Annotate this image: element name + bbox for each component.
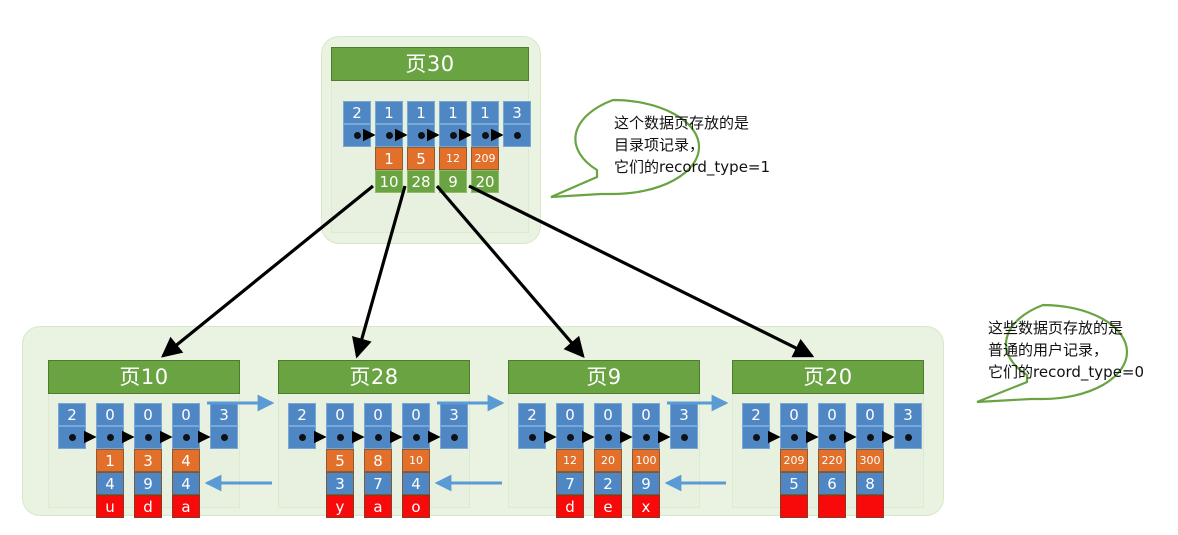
record-mid-leaf2-3: 100 (632, 449, 660, 472)
record-num-leaf2-1: 7 (556, 472, 584, 495)
record-pointer-root-0 (343, 124, 371, 147)
record-mid-leaf3-3: 300 (856, 449, 884, 472)
record-header-leaf2-1: 0 (556, 403, 584, 426)
record-leaf1-4[interactable]: 3 (440, 403, 468, 449)
record-pointer-leaf1-3 (402, 426, 430, 449)
record-num-leaf1-1: 3 (326, 472, 354, 495)
pointer-dot-icon (605, 434, 612, 441)
record-pointer-leaf1-0 (288, 426, 316, 449)
page-title-root: 页30 (331, 47, 529, 81)
pointer-dot-icon (482, 132, 489, 139)
record-val-leaf0-3: a (172, 495, 200, 518)
pointer-dot-icon (791, 434, 798, 441)
record-header-leaf2-0: 2 (518, 403, 546, 426)
record-val-leaf2-3: x (632, 495, 660, 518)
pointer-dot-icon (829, 434, 836, 441)
record-root-3[interactable]: 1129 (439, 101, 467, 193)
record-mid-root-1: 1 (375, 147, 403, 170)
record-leaf3-0[interactable]: 2 (742, 403, 770, 449)
pointer-dot-icon (221, 434, 228, 441)
pointer-dot-icon (418, 132, 425, 139)
record-root-5[interactable]: 3 (503, 101, 531, 147)
record-pointer-leaf2-3 (632, 426, 660, 449)
record-header-leaf0-2: 0 (134, 403, 162, 426)
record-val-leaf3-2 (818, 495, 846, 518)
record-header-root-5: 3 (503, 101, 531, 124)
record-val-leaf1-3: o (402, 495, 430, 518)
record-header-leaf1-0: 2 (288, 403, 316, 426)
record-mid-root-2: 5 (407, 147, 435, 170)
record-leaf2-3[interactable]: 01009x (632, 403, 660, 518)
diagram-canvas: 页30 页10 页28 页9 页20 211101528112912092032… (0, 0, 1178, 535)
record-val-leaf3-1 (780, 495, 808, 518)
record-childpage-root-3: 9 (439, 170, 467, 193)
pointer-dot-icon (514, 132, 521, 139)
record-childpage-root-1: 10 (375, 170, 403, 193)
record-header-leaf1-4: 3 (440, 403, 468, 426)
record-mid-leaf0-2: 3 (134, 449, 162, 472)
record-num-leaf2-2: 2 (594, 472, 622, 495)
pointer-dot-icon (299, 434, 306, 441)
pointer-dot-icon (567, 434, 574, 441)
record-mid-root-3: 12 (439, 147, 467, 170)
record-pointer-root-3 (439, 124, 467, 147)
record-pointer-leaf2-4 (670, 426, 698, 449)
pointer-dot-icon (375, 434, 382, 441)
record-num-leaf3-3: 8 (856, 472, 884, 495)
record-root-4[interactable]: 120920 (471, 101, 499, 193)
record-childpage-root-4: 20 (471, 170, 499, 193)
record-leaf1-0[interactable]: 2 (288, 403, 316, 449)
record-val-leaf0-1: u (96, 495, 124, 518)
record-leaf1-3[interactable]: 0104o (402, 403, 430, 518)
record-leaf2-4[interactable]: 3 (670, 403, 698, 449)
record-header-leaf0-3: 0 (172, 403, 200, 426)
record-header-leaf3-0: 2 (742, 403, 770, 426)
record-pointer-leaf0-0 (58, 426, 86, 449)
record-header-leaf1-1: 0 (326, 403, 354, 426)
record-leaf2-2[interactable]: 0202e (594, 403, 622, 518)
callout-root-line-1: 这个数据页存放的是 (614, 112, 749, 134)
record-num-leaf0-1: 4 (96, 472, 124, 495)
record-num-leaf1-2: 7 (364, 472, 392, 495)
record-mid-leaf0-1: 1 (96, 449, 124, 472)
record-pointer-leaf3-4 (894, 426, 922, 449)
record-pointer-leaf3-2 (818, 426, 846, 449)
record-pointer-root-1 (375, 124, 403, 147)
pointer-dot-icon (69, 434, 76, 441)
record-mid-leaf1-2: 8 (364, 449, 392, 472)
record-pointer-leaf2-2 (594, 426, 622, 449)
record-val-leaf1-1: y (326, 495, 354, 518)
record-leaf0-3[interactable]: 044a (172, 403, 200, 518)
record-pointer-root-5 (503, 124, 531, 147)
record-mid-leaf0-3: 4 (172, 449, 200, 472)
record-root-2[interactable]: 1528 (407, 101, 435, 193)
page-title-leaf-0: 页10 (48, 360, 240, 394)
record-childpage-root-2: 28 (407, 170, 435, 193)
record-header-leaf0-0: 2 (58, 403, 86, 426)
pointer-dot-icon (753, 434, 760, 441)
page-title-leaf-2: 页9 (508, 360, 700, 394)
pointer-dot-icon (529, 434, 536, 441)
page-title-leaf-3: 页20 (732, 360, 924, 394)
pointer-dot-icon (413, 434, 420, 441)
callout-leaf-line-3: 它们的record_type=0 (988, 361, 1144, 383)
record-pointer-leaf3-1 (780, 426, 808, 449)
record-val-leaf2-2: e (594, 495, 622, 518)
record-leaf0-4[interactable]: 3 (210, 403, 238, 449)
pointer-dot-icon (145, 434, 152, 441)
record-header-leaf3-4: 3 (894, 403, 922, 426)
record-leaf0-2[interactable]: 039d (134, 403, 162, 518)
callout-root-line-3: 它们的record_type=1 (614, 156, 770, 178)
callout-root-line-2: 目录项记录， (614, 134, 704, 156)
pointer-dot-icon (354, 132, 361, 139)
record-leaf3-2[interactable]: 02206 (818, 403, 846, 518)
record-header-root-4: 1 (471, 101, 499, 124)
record-pointer-leaf3-3 (856, 426, 884, 449)
record-mid-leaf3-1: 209 (780, 449, 808, 472)
record-num-leaf3-2: 6 (818, 472, 846, 495)
record-header-leaf3-3: 0 (856, 403, 884, 426)
pointer-dot-icon (681, 434, 688, 441)
pointer-dot-icon (107, 434, 114, 441)
record-leaf1-1[interactable]: 053y (326, 403, 354, 518)
record-val-leaf1-2: a (364, 495, 392, 518)
record-mid-leaf1-1: 5 (326, 449, 354, 472)
record-pointer-leaf0-4 (210, 426, 238, 449)
callout-leaf-line-1: 这些数据页存放的是 (988, 317, 1123, 339)
record-mid-leaf1-3: 10 (402, 449, 430, 472)
record-header-root-3: 1 (439, 101, 467, 124)
record-pointer-leaf2-1 (556, 426, 584, 449)
record-num-leaf3-1: 5 (780, 472, 808, 495)
record-pointer-leaf0-2 (134, 426, 162, 449)
record-header-leaf3-1: 0 (780, 403, 808, 426)
record-leaf3-1[interactable]: 02095 (780, 403, 808, 518)
record-num-leaf1-3: 4 (402, 472, 430, 495)
pointer-dot-icon (867, 434, 874, 441)
record-pointer-root-2 (407, 124, 435, 147)
record-num-leaf0-2: 9 (134, 472, 162, 495)
record-header-leaf2-2: 0 (594, 403, 622, 426)
record-pointer-root-4 (471, 124, 499, 147)
record-leaf2-0[interactable]: 2 (518, 403, 546, 449)
record-num-leaf2-3: 9 (632, 472, 660, 495)
record-mid-leaf2-2: 20 (594, 449, 622, 472)
pointer-dot-icon (451, 434, 458, 441)
record-val-leaf3-3 (856, 495, 884, 518)
record-mid-root-4: 209 (471, 147, 499, 170)
record-val-leaf2-1: d (556, 495, 584, 518)
record-header-root-2: 1 (407, 101, 435, 124)
record-header-leaf0-4: 3 (210, 403, 238, 426)
record-header-leaf2-3: 0 (632, 403, 660, 426)
record-num-leaf0-3: 4 (172, 472, 200, 495)
record-header-leaf0-1: 0 (96, 403, 124, 426)
record-pointer-leaf2-0 (518, 426, 546, 449)
page-title-leaf-1: 页28 (278, 360, 470, 394)
callout-leaf-line-2: 普通的用户记录， (988, 339, 1108, 361)
pointer-dot-icon (450, 132, 457, 139)
record-leaf3-4[interactable]: 3 (894, 403, 922, 449)
record-leaf2-1[interactable]: 0127d (556, 403, 584, 518)
record-header-root-1: 1 (375, 101, 403, 124)
record-header-leaf1-2: 0 (364, 403, 392, 426)
pointer-dot-icon (386, 132, 393, 139)
record-pointer-leaf0-3 (172, 426, 200, 449)
record-root-1[interactable]: 1110 (375, 101, 403, 193)
pointer-dot-icon (337, 434, 344, 441)
record-header-leaf1-3: 0 (402, 403, 430, 426)
record-header-leaf3-2: 0 (818, 403, 846, 426)
record-header-leaf2-4: 3 (670, 403, 698, 426)
record-leaf1-2[interactable]: 087a (364, 403, 392, 518)
pointer-dot-icon (183, 434, 190, 441)
record-leaf0-1[interactable]: 014u (96, 403, 124, 518)
pointer-dot-icon (905, 434, 912, 441)
record-pointer-leaf3-0 (742, 426, 770, 449)
record-mid-leaf3-2: 220 (818, 449, 846, 472)
pointer-dot-icon (643, 434, 650, 441)
record-val-leaf0-2: d (134, 495, 162, 518)
record-leaf0-0[interactable]: 2 (58, 403, 86, 449)
record-root-0[interactable]: 2 (343, 101, 371, 147)
record-pointer-leaf1-2 (364, 426, 392, 449)
record-leaf3-3[interactable]: 03008 (856, 403, 884, 518)
record-pointer-leaf1-4 (440, 426, 468, 449)
record-header-root-0: 2 (343, 101, 371, 124)
record-mid-leaf2-1: 12 (556, 449, 584, 472)
record-pointer-leaf0-1 (96, 426, 124, 449)
record-pointer-leaf1-1 (326, 426, 354, 449)
